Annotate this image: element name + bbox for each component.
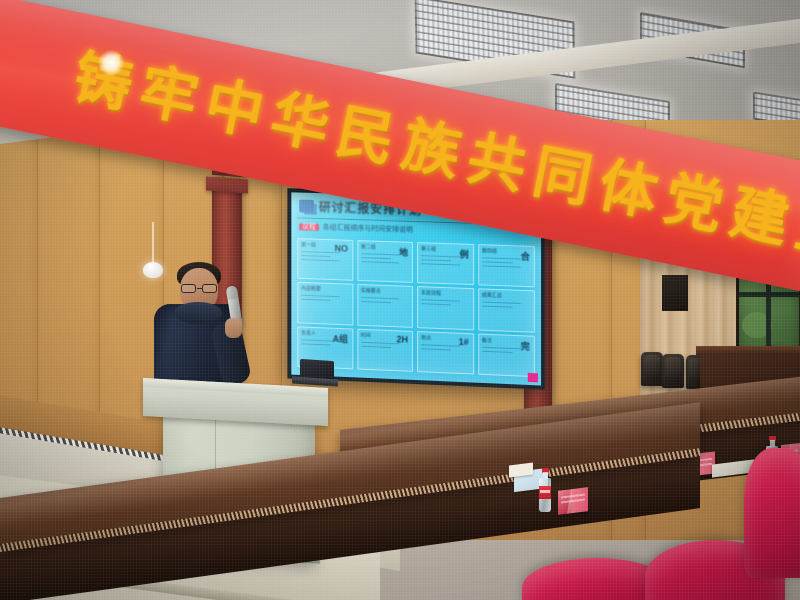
slide-column: 第四组 合 成果汇总 备注 完	[478, 244, 535, 377]
slide-accent-marker	[528, 373, 538, 383]
slide-card: 时间 2H	[357, 328, 413, 372]
back-chair[interactable]	[662, 354, 684, 388]
audience-chair[interactable]	[744, 448, 800, 578]
presenter-hand	[225, 318, 242, 338]
slide-card: 第一组 NO	[297, 238, 353, 281]
presenter-collar	[174, 302, 222, 324]
slide-subtitle-text: 各组汇报顺序与时间安排说明	[323, 224, 413, 234]
back-chair[interactable]	[641, 352, 663, 386]
slide-card-value: 例	[460, 247, 469, 260]
slide-card-value: A组	[333, 331, 348, 345]
pilaster-capital	[206, 177, 248, 194]
slide-card-value: NO	[335, 243, 348, 253]
slide-card: 第四组 合	[478, 244, 535, 288]
slide-card: 实验流程	[417, 286, 474, 330]
slide-card: 成果汇总	[478, 289, 535, 333]
slide-logo-icon	[299, 199, 314, 212]
slide-card-value: 1#	[459, 336, 469, 346]
bottle-label	[539, 486, 551, 499]
slide-card-value: 2H	[397, 334, 408, 344]
slide-column: 第一组 NO 内容概要 负责人 A组	[297, 238, 353, 369]
slide-card-header: 成果汇总	[482, 292, 531, 301]
dark-wall-fixture	[662, 275, 688, 311]
slide-card-header: 内容概要	[301, 285, 349, 294]
slide-card-header: 实施要点	[361, 287, 409, 296]
name-placard[interactable]	[558, 487, 588, 515]
conference-room-photo: 研讨汇报安排计划 议程各组汇报顺序与时间安排说明 第一组 NO 内容概要	[0, 0, 800, 600]
slide-column: 第二组 地 实施要点 时间 2H	[357, 240, 413, 372]
slide-card: 第三组 例	[417, 242, 474, 285]
slide-card: 实施要点	[357, 284, 413, 327]
slide-subtitle-tag: 议程	[299, 223, 319, 231]
slide-card-value: 合	[521, 250, 530, 263]
slide-card: 第二组 地	[357, 240, 413, 283]
water-bottle[interactable]	[539, 472, 551, 512]
slide-card: 地点 1#	[417, 331, 474, 375]
slide-card-value: 地	[399, 245, 408, 258]
slide-card-header: 实验流程	[421, 290, 470, 299]
glasses-icon	[180, 284, 218, 293]
slide-card: 备注 完	[478, 333, 535, 377]
slide-card: 内容概要	[297, 282, 353, 325]
slide-column: 第三组 例 实验流程 地点 1#	[417, 242, 474, 374]
slide-content-grid: 第一组 NO 内容概要 负责人 A组	[297, 238, 535, 377]
slide-card-value: 完	[521, 339, 530, 352]
